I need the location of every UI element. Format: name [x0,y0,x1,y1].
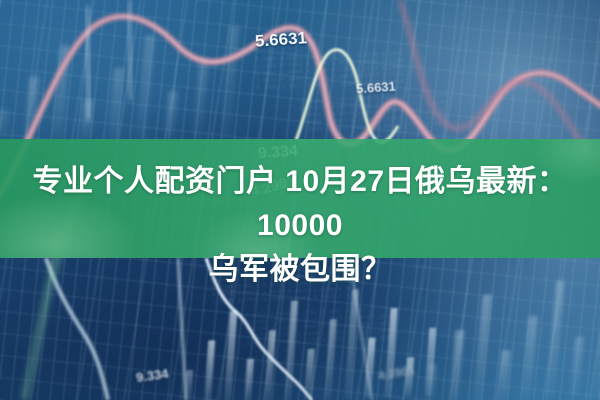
headline-line-1: 专业个人配资门户 10月27日俄乌最新：10000 [12,160,588,248]
price-label-1: 5.6631 [254,28,307,52]
headline-line-2: 乌军被包围？ [12,248,588,292]
article-thumbnail: 0.0184 0.3312 1.0047 0.8821 2.3310 0.441… [0,0,600,400]
headline-text: 专业个人配资门户 10月27日俄乌最新：10000 乌军被包围？ [0,160,600,292]
price-label-2: 5.6631 [356,79,397,97]
